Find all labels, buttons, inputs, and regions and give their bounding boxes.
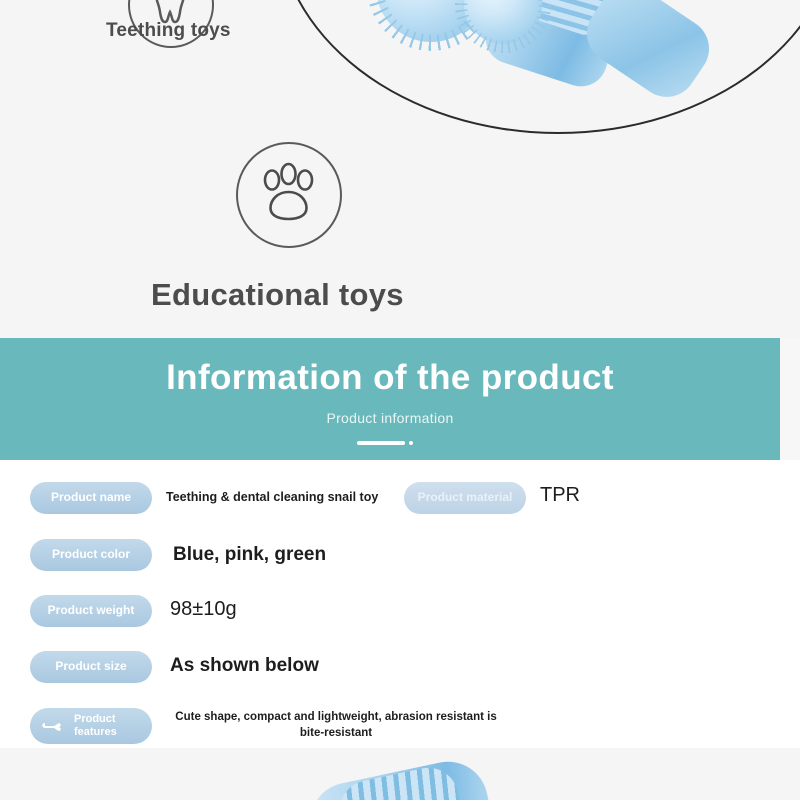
product-info-banner: Information of the product Product infor… <box>0 338 780 460</box>
product-detail-page: Teething toys Educational toys Informati… <box>0 0 800 800</box>
spec-value-product-size: As shown below <box>170 655 319 677</box>
spec-value-product-material: TPR <box>540 484 580 507</box>
spec-label-product-material: Product material <box>404 482 526 514</box>
spec-value-product-name: Teething & dental cleaning snail toy <box>166 490 378 504</box>
banner-subtitle: Product information <box>0 410 780 426</box>
educational-icon-circle <box>236 142 342 248</box>
product-photo-bottom <box>0 748 800 800</box>
product-photo-top <box>352 0 724 158</box>
bone-icon <box>42 717 62 735</box>
paw-print-icon <box>238 144 339 245</box>
spec-value-product-weight: 98±10g <box>170 598 237 621</box>
spec-row-product-name: Product name Teething & dental cleaning … <box>0 482 800 526</box>
spec-row-product-features: Product features Cute shape, compact and… <box>0 708 800 752</box>
banner-divider-dot <box>409 441 413 445</box>
spec-label-product-weight: Product weight <box>30 595 152 627</box>
spec-label-product-color: Product color <box>30 539 152 571</box>
hero-section: Teething toys Educational toys <box>0 0 800 338</box>
banner-divider <box>357 441 405 445</box>
spec-value-product-features: Cute shape, compact and lightweight, abr… <box>166 710 506 741</box>
spec-value-product-color: Blue, pink, green <box>173 544 326 566</box>
toy-spikes-small <box>464 0 542 44</box>
banner-title: Information of the product <box>0 358 780 398</box>
spec-row-product-color: Product color Blue, pink, green <box>0 539 800 583</box>
toy-neck <box>575 0 720 109</box>
teething-label: Teething toys <box>106 20 231 42</box>
spec-row-product-weight: Product weight 98±10g <box>0 595 800 639</box>
spec-row-product-size: Product size As shown below <box>0 651 800 695</box>
spec-label-product-name: Product name <box>30 482 152 514</box>
spec-label-product-size: Product size <box>30 651 152 683</box>
educational-label: Educational toys <box>151 277 404 313</box>
specification-table: Product name Teething & dental cleaning … <box>0 460 800 748</box>
